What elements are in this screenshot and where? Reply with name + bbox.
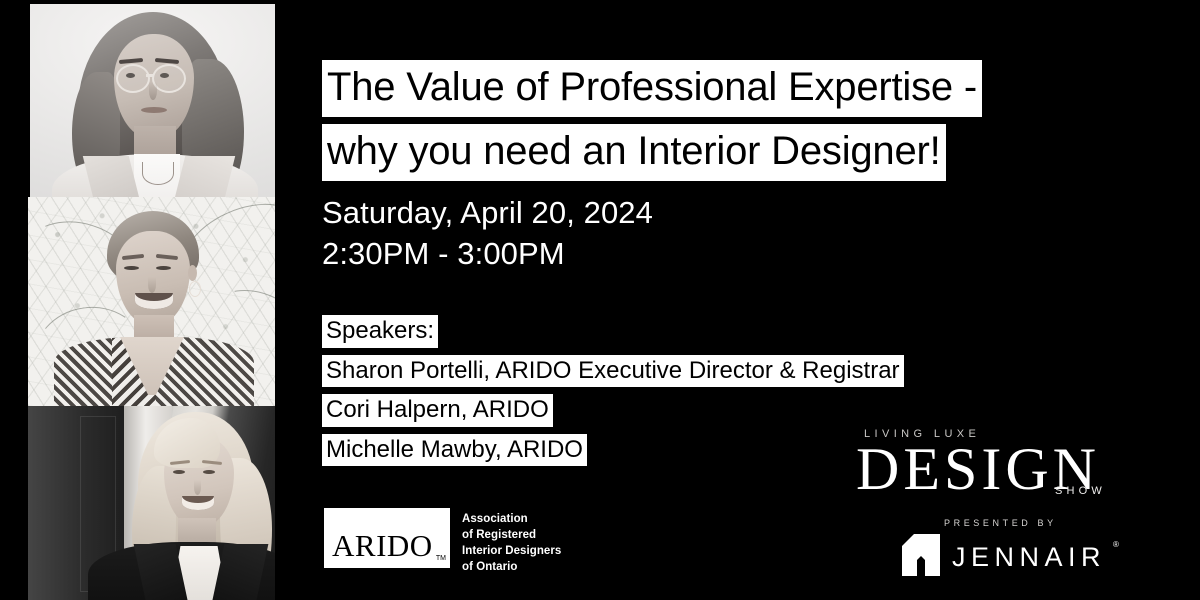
speaker-name-1: Sharon Portelli, ARIDO Executive Directo… [322,355,904,388]
jennair-logo: PRESENTED BY JENNAIR ® [890,518,1130,584]
arido-tagline-line-1: Association [462,511,561,527]
photo-3-smile [182,496,214,510]
photo-3-eye-right [203,470,215,474]
arido-wordmark-text: ARIDO [332,528,433,564]
photo-1-eyeglass-bridge [146,74,154,77]
session-schedule: Saturday, April 20, 2024 2:30PM - 3:00PM [322,192,653,274]
photo-1-eyeglass-right [152,64,186,93]
speaker-photo-2 [28,197,275,406]
session-title-line-1: The Value of Professional Expertise - [322,60,982,117]
photo-1-nose [149,82,157,100]
speaker-photo-strip [0,0,300,600]
photo-2-ear [188,265,197,281]
photo-3-nose [194,480,201,495]
photo-3-eye-left [173,470,185,474]
content-area: The Value of Professional Expertise - wh… [300,0,1200,600]
arido-tagline-line-2: of Registered [462,527,561,543]
session-title: The Value of Professional Expertise - wh… [322,60,1062,188]
session-time: 2:30PM - 3:00PM [322,233,653,274]
photo-2-eye-right [156,266,171,270]
design-show-sub: SHOW [1055,485,1106,497]
design-show-logo: LIVING LUXE DESIGN SHOW [856,428,1112,508]
session-title-line-2: why you need an Interior Designer! [322,124,946,181]
arido-tagline-line-4: of Ontario [462,559,561,575]
jennair-presented-by-label: PRESENTED BY [944,518,1057,528]
photo-2-smile [135,293,173,309]
arido-wordmark-box: ARIDO TM [324,508,450,568]
photo-1-necklace [142,162,174,185]
speakers-block: Speakers: Sharon Portelli, ARIDO Executi… [322,315,904,473]
speaker-photo-3 [28,406,275,600]
jennair-registered-icon: ® [1113,540,1119,549]
photo-2-earring [189,281,201,297]
arido-tagline: Association of Registered Interior Desig… [462,508,561,575]
speaker-name-3: Michelle Mawby, ARIDO [322,434,587,467]
jennair-mark-icon [902,534,940,576]
speaker-name-2: Cori Halpern, ARIDO [322,394,553,427]
jennair-wordmark: JENNAIR [952,542,1106,573]
arido-logo: ARIDO TM Association of Registered Inter… [324,508,561,575]
photo-2-nose [148,277,156,293]
speakers-heading: Speakers: [322,315,438,348]
session-date: Saturday, April 20, 2024 [322,192,653,233]
arido-trademark-icon: TM [436,555,446,562]
speaker-photo-1 [30,4,275,197]
photo-2-eye-left [124,266,139,270]
slide-canvas: The Value of Professional Expertise - wh… [0,0,1200,600]
arido-tagline-line-3: Interior Designers [462,543,561,559]
photo-1-mouth [141,107,167,113]
photo-1-eyeglass-left [116,64,150,93]
